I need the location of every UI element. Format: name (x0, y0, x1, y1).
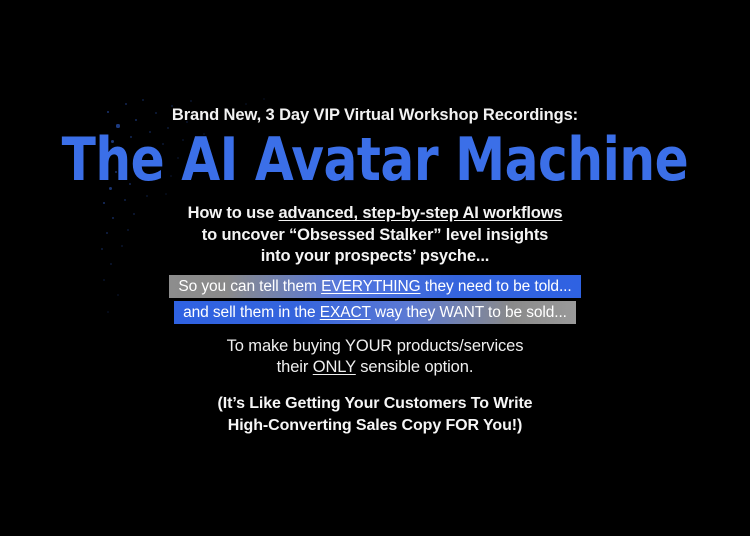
supporting-copy-line-2-after: sensible option. (356, 358, 474, 376)
subheadline-line-1: How to use advanced, step-by-step AI wor… (188, 203, 563, 225)
subheadline-line-1-underlined: advanced, step-by-step AI workflows (279, 204, 563, 222)
subheadline-block: How to use advanced, step-by-step AI wor… (188, 203, 563, 268)
kicker-line-1: (It’s Like Getting Your Customers To Wri… (218, 393, 533, 415)
highlight-bar-2-before: and sell them in the (183, 304, 320, 321)
page-title: The AI Avatar Machine (62, 130, 689, 190)
promo-slide: Brand New, 3 Day VIP Virtual Workshop Re… (0, 0, 750, 536)
highlight-bar-1: So you can tell them EVERYTHING they nee… (169, 275, 580, 298)
supporting-copy-line-1: To make buying YOUR products/services (227, 336, 524, 358)
supporting-copy-block: To make buying YOUR products/services th… (227, 336, 524, 379)
eyebrow-text: Brand New, 3 Day VIP Virtual Workshop Re… (172, 106, 578, 124)
highlight-bars: So you can tell them EVERYTHING they nee… (169, 275, 580, 324)
supporting-copy-line-2-emphasis: ONLY (313, 358, 356, 376)
supporting-copy-line-2-before: their (277, 358, 313, 376)
highlight-bar-2: and sell them in the EXACT way they WANT… (174, 301, 576, 324)
kicker-block: (It’s Like Getting Your Customers To Wri… (218, 393, 533, 437)
highlight-bar-2-emphasis: EXACT (320, 304, 371, 321)
subheadline-line-1-plain: How to use (188, 204, 279, 222)
subheadline-line-3: into your prospects’ psyche... (188, 246, 563, 268)
highlight-bar-1-before: So you can tell them (178, 278, 321, 295)
subheadline-line-2: to uncover “Obsessed Stalker” level insi… (188, 225, 563, 247)
slide-content: Brand New, 3 Day VIP Virtual Workshop Re… (0, 0, 750, 536)
highlight-bar-1-after: they need to be told... (421, 278, 572, 295)
supporting-copy-line-2: their ONLY sensible option. (227, 357, 524, 379)
kicker-line-2: High-Converting Sales Copy FOR You!) (218, 415, 533, 437)
highlight-bar-1-emphasis: EVERYTHING (321, 278, 421, 295)
highlight-bar-2-after: way they WANT to be sold... (371, 304, 567, 321)
